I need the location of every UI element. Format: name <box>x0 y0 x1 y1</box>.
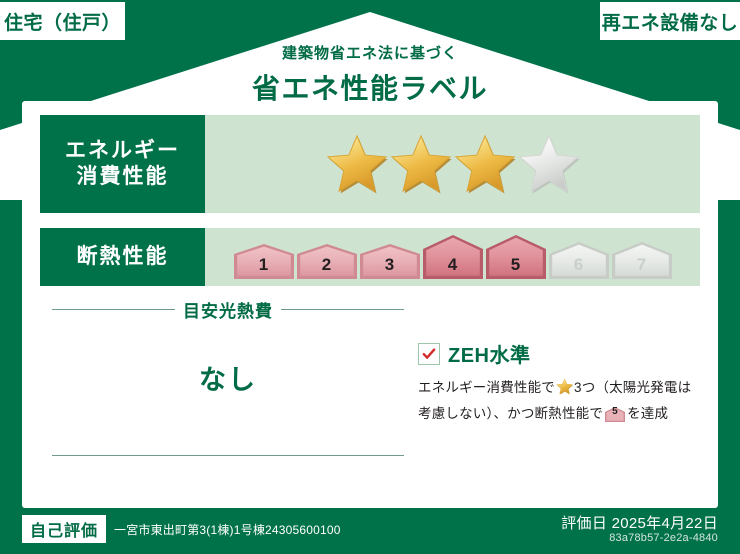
self-evaluation-badge: 自己評価 <box>22 515 106 543</box>
house-badge-icon <box>234 244 294 279</box>
insulation-grade-badge: 3 <box>360 244 420 279</box>
row-energy-label-line2: 消費性能 <box>77 164 169 190</box>
title-subtitle: 建築物省エネ法に基づく <box>0 42 740 63</box>
star-icon-filled <box>556 378 573 395</box>
star-rating <box>326 133 580 195</box>
star-icon-filled <box>454 133 516 195</box>
label-title-block: 建築物省エネ法に基づく 省エネ性能ラベル <box>0 42 740 107</box>
utility-cost-bottom-rule <box>52 455 404 456</box>
footer: 自己評価 一宮市東出町第3(1棟)1号棟24305600100 評価日 2025… <box>0 508 740 554</box>
insulation-grade-badge: 6 <box>549 242 609 279</box>
zeh-description: エネルギー消費性能で3つ（太陽光発電は考慮しない）、かつ断熱性能で5を達成 <box>418 376 703 425</box>
star-icon-inline <box>556 383 573 398</box>
row-insulation-label: 断熱性能 <box>40 228 205 286</box>
insulation-grade-badge: 7 <box>612 242 672 279</box>
house-badge-icon <box>423 235 483 279</box>
star-icon-filled <box>390 133 452 195</box>
rule-right <box>281 309 404 310</box>
insulation-grade-badge: 5 <box>486 235 546 279</box>
star-icon-filled <box>326 133 388 195</box>
row-insulation-label-line1: 断熱性能 <box>77 244 169 270</box>
zeh-header: ZEH水準 <box>418 339 703 368</box>
tag-building-type: 住宅（住戸） <box>0 2 125 40</box>
property-address: 一宮市東出町第3(1棟)1号棟24305600100 <box>114 521 341 538</box>
insulation-grade-badge: 1 <box>234 244 294 279</box>
row-insulation-value: 1234567 <box>205 228 700 286</box>
row-energy-label: エネルギー 消費性能 <box>40 115 205 213</box>
evaluation-date: 評価日 2025年4月22日 <box>561 512 718 533</box>
row-energy-label-line1: エネルギー <box>65 138 180 164</box>
row-energy-performance: エネルギー 消費性能 <box>40 115 700 213</box>
tag-renewable-equipment: 再エネ設備なし <box>600 2 740 40</box>
zeh-desc-part1: エネルギー消費性能で <box>418 380 555 395</box>
house-badge-icon <box>360 244 420 279</box>
rule-left <box>52 309 175 310</box>
grade-badge-inline-number: 5 <box>605 403 625 420</box>
row-energy-value <box>205 115 700 213</box>
house-badge-icon <box>486 235 546 279</box>
insulation-grade-badge: 2 <box>297 244 357 279</box>
insulation-grade-scale: 1234567 <box>234 235 672 279</box>
evaluation-id: 83a78b57-2e2a-4840 <box>609 532 718 544</box>
zeh-title: ZEH水準 <box>448 339 531 368</box>
row-insulation-performance: 断熱性能 1234567 <box>40 228 700 286</box>
star-icon-empty <box>518 133 580 195</box>
utility-cost-header: 目安光熱費 <box>52 297 404 322</box>
check-icon <box>418 343 440 365</box>
utility-cost-title: 目安光熱費 <box>183 297 273 322</box>
grade-badge-inline: 5 <box>605 406 625 421</box>
house-badge-icon <box>297 244 357 279</box>
house-badge-icon <box>549 242 609 279</box>
house-badge-icon <box>612 242 672 279</box>
zeh-desc-part3: を達成 <box>627 406 668 421</box>
label-card: エネルギー 消費性能 断熱性能 1234567 目安光熱費 なし <box>22 101 718 508</box>
utility-cost-block: 目安光熱費 なし <box>52 297 404 397</box>
utility-cost-value: なし <box>52 358 404 397</box>
zeh-desc-star-count: 3つ（太陽光発電 <box>574 380 678 395</box>
insulation-grade-badge: 4 <box>423 235 483 279</box>
zeh-block: ZEH水準 エネルギー消費性能で3つ（太陽光発電は考慮しない）、かつ断熱性能で5… <box>418 339 703 425</box>
